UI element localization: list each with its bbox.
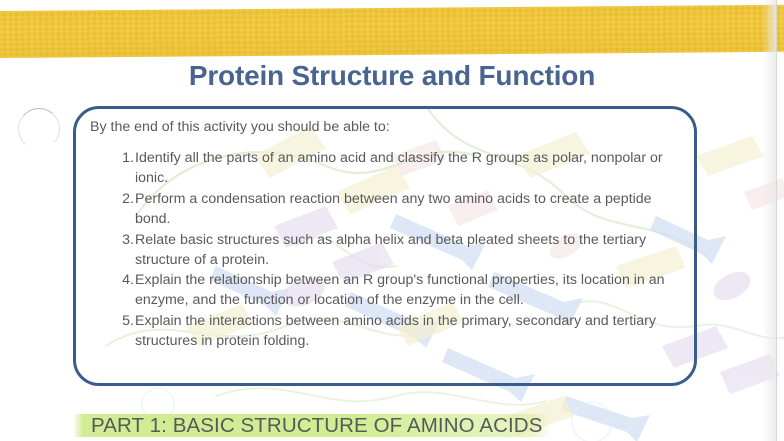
list-item-text: Perform a condensation reaction between … [135, 191, 652, 227]
hole-punch-mark [17, 107, 62, 152]
list-item: 4. Explain the relationship between an R… [90, 271, 690, 311]
list-item: 2. Perform a condensation reaction betwe… [90, 190, 690, 230]
section-heading-part-1: PART 1: BASIC STRUCTURE OF AMINO ACIDS [87, 412, 558, 440]
list-item-number: 3. [116, 231, 134, 251]
objectives-list: 1. Identify all the parts of an amino ac… [90, 149, 690, 352]
list-item-number: 2. [116, 190, 134, 210]
objectives-intro: By the end of this activity you should b… [90, 118, 690, 137]
list-item-number: 5. [116, 312, 134, 332]
list-item-number: 4. [116, 271, 134, 291]
yellow-header-band [0, 5, 784, 58]
list-item-text: Explain the relationship between an R gr… [135, 272, 665, 308]
list-item: 5. Explain the interactions between amin… [90, 312, 690, 352]
objectives-content: By the end of this activity you should b… [90, 118, 690, 353]
page-edge-line [776, 0, 777, 441]
scanned-worksheet-page: Protein Structure and Function By the en… [0, 0, 784, 441]
list-item-text: Explain the interactions between amino a… [135, 313, 656, 349]
list-item-text: Identify all the parts of an amino acid … [135, 150, 663, 186]
list-item: 1. Identify all the parts of an amino ac… [90, 149, 690, 189]
list-item-text: Relate basic structures such as alpha he… [135, 232, 646, 268]
page-title: Protein Structure and Function [0, 60, 784, 92]
banner-texture [0, 5, 784, 58]
page-edge-shading [762, 0, 776, 441]
list-item-number: 1. [116, 149, 134, 169]
list-item: 3. Relate basic structures such as alpha… [90, 231, 690, 271]
